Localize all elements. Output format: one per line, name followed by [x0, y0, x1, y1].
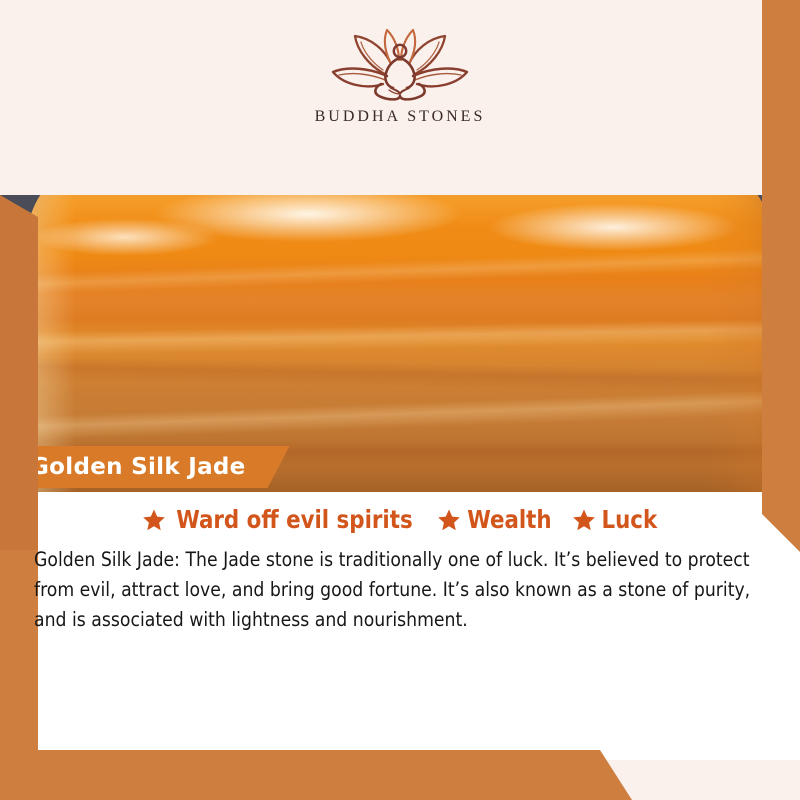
infographic-canvas: BUDDHA STONES Stone Features & Benefits … [0, 0, 800, 800]
star-icon [572, 508, 596, 532]
stone-name-label: Golden Silk Jade [0, 446, 290, 488]
header: BUDDHA STONES [0, 0, 800, 196]
lotus-meditation-logo-icon [325, 24, 475, 104]
frame-left-accent [0, 195, 38, 555]
brand-logo: BUDDHA STONES [315, 24, 486, 126]
benefit-item: Luck [572, 505, 659, 534]
stone-photo: Golden Silk Jade [0, 195, 800, 492]
star-icon [142, 508, 166, 532]
benefit-label: Wealth [467, 505, 551, 534]
star-icon [437, 508, 461, 532]
benefit-item: Ward off evil spirits [142, 505, 419, 534]
benefit-label: Ward off evil spirits [176, 505, 412, 534]
benefit-label: Luck [601, 505, 657, 534]
stone-name-text: Golden Silk Jade [30, 454, 246, 480]
description-paragraph: Golden Silk Jade: The Jade stone is trad… [34, 545, 761, 635]
content-section: Ward off evil spirits Wealth Luck Golden… [0, 505, 800, 635]
benefits-list: Ward off evil spirits Wealth Luck [0, 505, 800, 534]
benefit-item: Wealth [437, 505, 554, 534]
brand-name: BUDDHA STONES [315, 108, 486, 126]
